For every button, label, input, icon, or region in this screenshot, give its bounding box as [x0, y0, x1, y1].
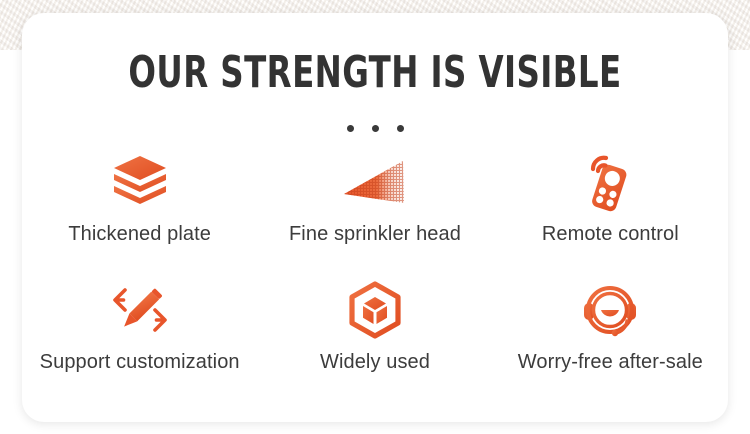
- feature-label: Remote control: [542, 223, 679, 246]
- divider-dot: [372, 125, 379, 132]
- sprinkler-spray-icon: [340, 151, 410, 213]
- feature-item-widely-used: Widely used: [257, 279, 492, 407]
- feature-label: Support customization: [40, 351, 240, 374]
- hexagon-cube-icon: [346, 279, 404, 341]
- feature-label: Widely used: [320, 351, 430, 374]
- divider-dot: [397, 125, 404, 132]
- divider-dot: [347, 125, 354, 132]
- pencil-ruler-icon: [111, 279, 169, 341]
- feature-item-thickened-plate: Thickened plate: [22, 151, 257, 279]
- feature-item-fine-sprinkler-head: Fine sprinkler head: [257, 151, 492, 279]
- feature-card: OUR STRENGTH IS VISIBLE: [22, 13, 728, 422]
- promo-banner: OUR STRENGTH IS VISIBLE: [0, 0, 750, 434]
- page-title: OUR STRENGTH IS VISIBLE: [86, 51, 665, 95]
- feature-label: Thickened plate: [68, 223, 211, 246]
- feature-item-remote-control: Remote control: [493, 151, 728, 279]
- headset-support-icon: [580, 279, 640, 341]
- feature-label: Fine sprinkler head: [289, 223, 461, 246]
- feature-item-support-customization: Support customization: [22, 279, 257, 407]
- feature-item-worry-free-after-sale: Worry-free after-sale: [493, 279, 728, 407]
- feature-label: Worry-free after-sale: [518, 351, 703, 374]
- feature-grid: Thickened plate: [22, 151, 728, 407]
- divider-dots: [22, 125, 728, 132]
- stacked-plates-icon: [109, 151, 171, 213]
- remote-control-icon: [580, 151, 640, 213]
